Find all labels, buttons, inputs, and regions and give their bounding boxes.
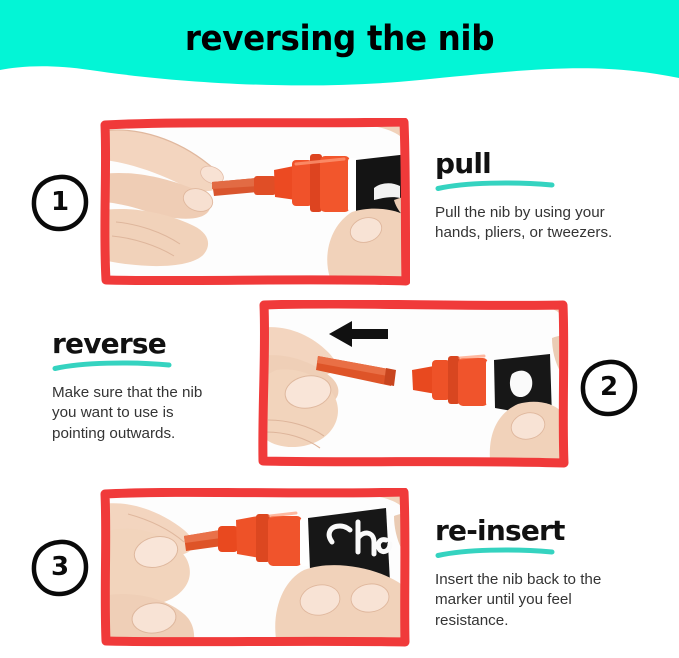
step-number-badge-1: 1	[29, 172, 91, 234]
step-number-badge-3: 3	[29, 537, 91, 599]
step-1-body: Pull the nib by using your hands, pliers…	[435, 203, 671, 244]
step-2-body: Make sure that the nib you want to use i…	[52, 383, 266, 445]
heading-underline-swash-2	[52, 360, 172, 372]
step-text-2: reverse Make sure that the nib you want …	[52, 330, 266, 444]
step-photo-3	[100, 488, 410, 647]
step-photo-1	[100, 118, 410, 286]
step-photo-1-image	[108, 126, 402, 278]
step-photo-2	[258, 300, 569, 468]
step-photo-2-image	[266, 308, 561, 460]
photo-illustration-reinsert	[108, 496, 402, 639]
heading-underline-swash-1	[435, 180, 555, 192]
photo-illustration-reverse	[266, 308, 561, 460]
step-1-heading: pull	[435, 150, 671, 179]
step-3-body: Insert the nib back to the marker until …	[435, 570, 671, 632]
step-photo-3-image	[108, 496, 402, 639]
step-text-1: pull Pull the nib by using your hands, p…	[435, 150, 671, 244]
step-number-2-label: 2	[578, 357, 640, 419]
step-number-1-label: 1	[29, 172, 91, 234]
step-text-3: re-insert Insert the nib back to the mar…	[435, 517, 671, 631]
step-number-3-label: 3	[29, 537, 91, 599]
step-2-heading: reverse	[52, 330, 266, 359]
step-3-heading: re-insert	[435, 517, 671, 546]
page-title: reversing the nib	[24, 19, 655, 59]
heading-underline-swash-3	[435, 547, 555, 559]
header-banner: reversing the nib	[0, 0, 679, 100]
photo-illustration-pull	[108, 126, 402, 278]
step-number-badge-2: 2	[578, 357, 640, 419]
